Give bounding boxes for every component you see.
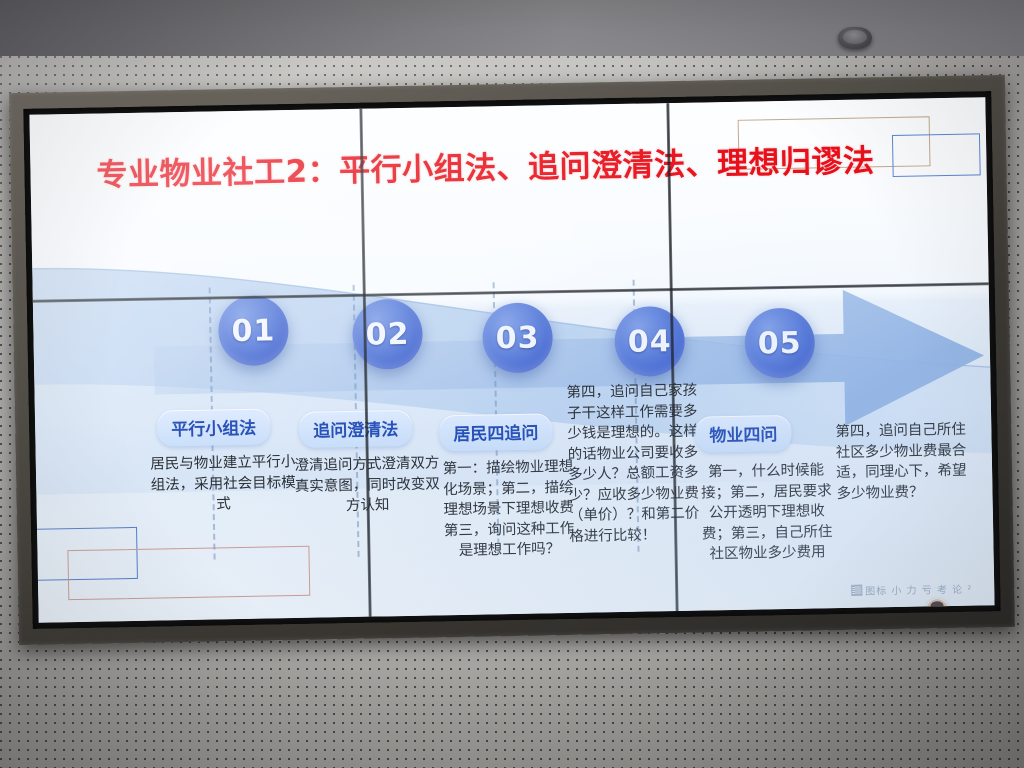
watermark-box-icon — [851, 585, 862, 596]
smoke-detector-icon — [838, 27, 872, 49]
step-number-label: 05 — [758, 325, 802, 361]
step-title-pill-01: 平行小组法 — [157, 408, 271, 446]
step-title-pill-05: 物业四问 — [695, 415, 792, 453]
presentation-slide: 专业物业社工2：平行小组法、追问澄清法、理想归谬法 01 平行小组法 居民与物业… — [29, 97, 994, 622]
step-body-text-04: 第四，追问自己家孩子干这样工作需要多少钱是理想的。这样的话物业公司要收多多少人？… — [566, 380, 707, 547]
step-number-label: 04 — [627, 324, 671, 360]
step-body-text-03: 第一：描绘物业理想化场景；第二，描绘理想场景下理想收费 第三，询问这种工作是理想… — [436, 457, 582, 563]
step-body-text-05: 第一，什么时候能接；第二，居民要求公开透明下理想收费；第三，自己所住社区物业多少… — [696, 460, 838, 565]
video-wall: 专业物业社工2：平行小组法、追问澄清法、理想归谬法 01 平行小组法 居民与物业… — [9, 75, 1015, 645]
video-wall-screen[interactable]: 专业物业社工2：平行小组法、追问澄清法、理想归谬法 01 平行小组法 居民与物业… — [29, 97, 994, 622]
watermark-text: 图标 ­小 力 亏 考 论 ² — [865, 585, 972, 598]
step-body-text-01: 居民与物业建立平行小组法，采用社会目标模式 — [148, 452, 299, 516]
trailing-note-text: 第四，追问自己所住社区多少物业费最合适，同理心下，希望多少物业费？ — [835, 420, 976, 505]
step-number-label: 01 — [231, 313, 275, 349]
decor-rect-bottom-left-2 — [67, 546, 310, 600]
meeting-room-photo: 专业物业社工2：平行小组法、追问澄清法、理想归谬法 01 平行小组法 居民与物业… — [0, 0, 1024, 768]
step-number-label: 02 — [365, 316, 409, 352]
slide-title: 专业物业社工2：平行小组法、追问澄清法、理想归谬法 — [96, 134, 927, 194]
step-title-pill-03: 居民四追问 — [439, 413, 553, 451]
slide-watermark: 图标 ­小 力 亏 考 论 ² — [851, 581, 972, 598]
step-number-label: 03 — [495, 320, 539, 356]
step-title-pill-02: 追问澄清法 — [299, 410, 413, 448]
